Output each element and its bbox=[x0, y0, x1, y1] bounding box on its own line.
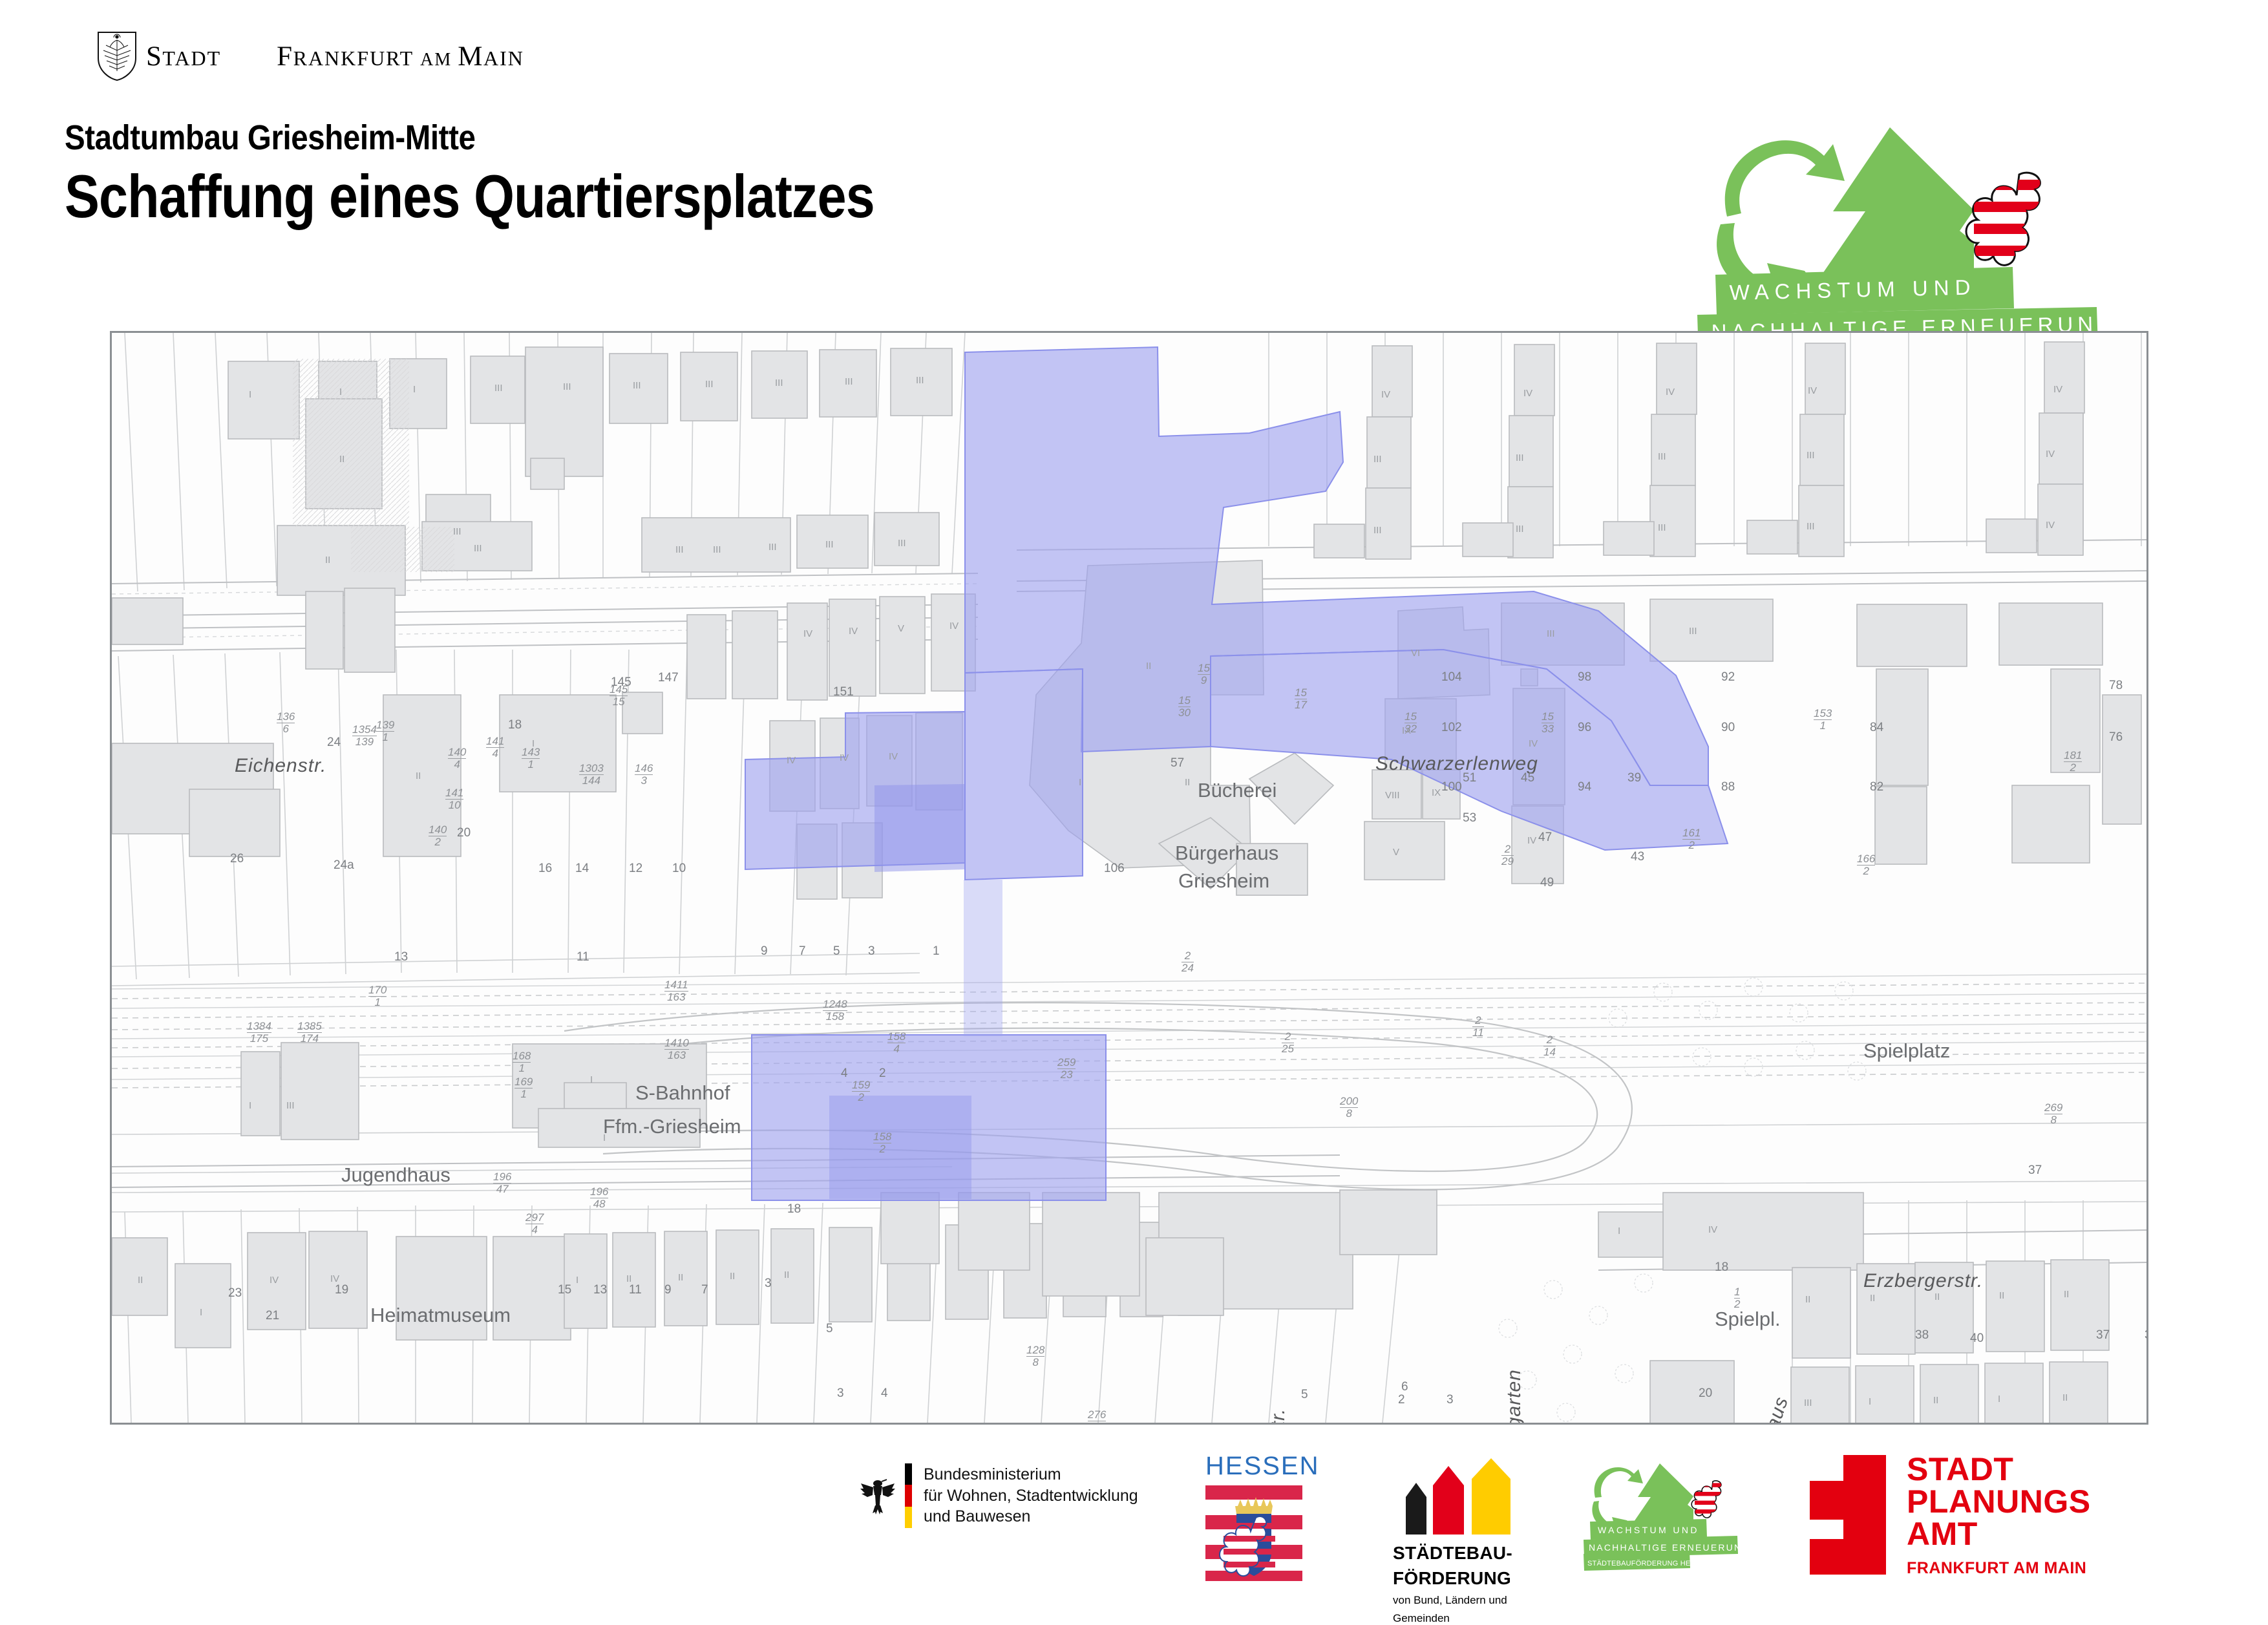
svg-text:IV: IV bbox=[1523, 388, 1532, 399]
svg-text:III: III bbox=[1689, 626, 1697, 637]
german-flag-bar bbox=[905, 1463, 912, 1528]
federal-eagle-icon bbox=[860, 1476, 896, 1516]
svg-text:IV: IV bbox=[803, 628, 812, 639]
svg-text:III: III bbox=[1807, 450, 1815, 461]
page-footer: Bundesministerium für Wohnen, Stadtentwi… bbox=[0, 1439, 2268, 1603]
city-wordmark: STADT FRANKFURT AM MAIN bbox=[146, 41, 524, 72]
bmwsb-line-1: Bundesministerium bbox=[924, 1464, 1138, 1485]
svg-text:II: II bbox=[784, 1269, 789, 1280]
frankfurt-eagle-crest-icon bbox=[97, 31, 137, 81]
svg-text:II: II bbox=[626, 1273, 631, 1284]
svg-text:V: V bbox=[898, 623, 904, 634]
svg-text:IV: IV bbox=[270, 1275, 279, 1286]
svg-text:II: II bbox=[730, 1271, 735, 1282]
svg-text:I: I bbox=[249, 1100, 251, 1111]
spa-line-2: PLANUNGS bbox=[1907, 1485, 2091, 1518]
svg-text:III: III bbox=[633, 380, 641, 391]
svg-text:IX: IX bbox=[1432, 787, 1441, 798]
stadtplanungsamt-mark-icon bbox=[1810, 1455, 1886, 1575]
sbf-line-1: STÄDTEBAU- bbox=[1393, 1543, 1529, 1563]
svg-text:II: II bbox=[678, 1272, 683, 1283]
page-title: Schaffung eines Quartiersplatzes bbox=[65, 162, 874, 231]
spa-line-4: FRANKFURT AM MAIN bbox=[1907, 1560, 2091, 1577]
svg-text:III: III bbox=[675, 544, 684, 555]
svg-text:II: II bbox=[1934, 1291, 1940, 1302]
hessen-coat-of-arms-icon bbox=[1205, 1484, 1302, 1581]
prog-small-line-1: WACHSTUM UND bbox=[1598, 1525, 1699, 1535]
svg-text:III: III bbox=[825, 539, 834, 550]
svg-text:III: III bbox=[713, 544, 721, 555]
svg-text:II: II bbox=[339, 454, 344, 465]
svg-text:II: II bbox=[1146, 661, 1151, 672]
city-of-frankfurt-logo: STADT FRANKFURT AM MAIN bbox=[97, 31, 524, 81]
svg-text:I: I bbox=[603, 1132, 606, 1143]
svg-text:IV: IV bbox=[2046, 449, 2055, 460]
svg-text:III: III bbox=[775, 377, 783, 388]
page-header: STADT FRANKFURT AM MAIN Stadtumbau Gries… bbox=[0, 0, 2268, 304]
svg-text:II: II bbox=[1933, 1395, 1938, 1406]
logo-stadtplanungsamt: STADT PLANUNGS AMT FRANKFURT AM MAIN bbox=[1810, 1453, 2091, 1577]
svg-text:IV: IV bbox=[2053, 384, 2062, 395]
svg-text:II: II bbox=[1999, 1290, 2004, 1301]
sbf-sub-2: Gemeinden bbox=[1393, 1611, 1529, 1625]
svg-text:III: III bbox=[1373, 454, 1382, 465]
logo-staedtebaufoerderung: STÄDTEBAU- FÖRDERUNG von Bund, Ländern u… bbox=[1393, 1457, 1529, 1625]
sbf-line-2: FÖRDERUNG bbox=[1393, 1568, 1529, 1588]
bmwsb-text: Bundesministerium für Wohnen, Stadtentwi… bbox=[924, 1464, 1138, 1527]
svg-text:II: II bbox=[1185, 777, 1190, 788]
svg-text:III: III bbox=[768, 542, 777, 553]
svg-text:I: I bbox=[1618, 1226, 1620, 1237]
svg-text:III: III bbox=[1658, 451, 1666, 462]
svg-text:II: II bbox=[325, 555, 330, 566]
svg-text:III: III bbox=[1658, 522, 1666, 533]
svg-text:IV: IV bbox=[889, 751, 898, 762]
prog-small-line-3: STÄDTEBAUFÖRDERUNG HESSEN bbox=[1587, 1560, 1710, 1567]
svg-text:I: I bbox=[200, 1307, 202, 1318]
svg-text:II: II bbox=[138, 1275, 143, 1286]
svg-text:I: I bbox=[339, 387, 342, 398]
svg-text:II: II bbox=[416, 770, 421, 781]
svg-text:II: II bbox=[1805, 1294, 1810, 1305]
svg-text:IV: IV bbox=[1529, 738, 1538, 749]
svg-text:III: III bbox=[1547, 628, 1555, 639]
svg-text:III: III bbox=[1373, 525, 1382, 536]
svg-text:I: I bbox=[576, 1275, 578, 1286]
svg-text:I: I bbox=[413, 384, 416, 395]
svg-text:III: III bbox=[1516, 524, 1524, 535]
svg-text:IV: IV bbox=[1666, 387, 1675, 398]
hessen-lion-icon bbox=[1966, 173, 2077, 265]
svg-text:III: III bbox=[453, 526, 461, 537]
svg-text:III: III bbox=[1807, 521, 1815, 532]
three-houses-icon bbox=[1393, 1457, 1529, 1535]
svg-text:VI: VI bbox=[1411, 648, 1420, 659]
svg-text:V: V bbox=[1393, 847, 1399, 858]
svg-text:III: III bbox=[705, 379, 714, 390]
logo-bundesministerium: Bundesministerium für Wohnen, Stadtentwi… bbox=[860, 1463, 1138, 1528]
svg-text:IV: IV bbox=[1808, 385, 1817, 396]
svg-text:I: I bbox=[1869, 1396, 1871, 1407]
svg-text:I: I bbox=[249, 389, 251, 400]
svg-text:IV: IV bbox=[1527, 835, 1536, 846]
hessen-label: HESSEN bbox=[1205, 1452, 1302, 1481]
logo-hessen: HESSEN bbox=[1205, 1452, 1302, 1584]
svg-text:IV: IV bbox=[330, 1273, 339, 1284]
cadastral-map[interactable]: III IIIIIIIII IIIIIIIII III IIII IIIIII … bbox=[110, 331, 2148, 1425]
prog-small-line-2: NACHHALTIGE ERNEUERUNG bbox=[1589, 1542, 1750, 1553]
svg-text:I: I bbox=[590, 1074, 593, 1085]
spa-line-1: STADT bbox=[1907, 1453, 2091, 1485]
svg-text:VIII: VIII bbox=[1385, 790, 1400, 801]
svg-text:III: III bbox=[916, 375, 924, 386]
spa-line-3: AMT bbox=[1907, 1518, 2091, 1550]
svg-text:III: III bbox=[474, 543, 482, 554]
svg-text:III: III bbox=[1516, 452, 1524, 463]
svg-text:III: III bbox=[898, 538, 906, 549]
svg-text:III: III bbox=[286, 1100, 295, 1111]
stadtplanungsamt-words: STADT PLANUNGS AMT FRANKFURT AM MAIN bbox=[1907, 1453, 2091, 1577]
svg-text:II: II bbox=[1870, 1293, 1875, 1304]
svg-text:I: I bbox=[532, 738, 535, 749]
svg-text:IV: IV bbox=[949, 621, 959, 632]
svg-text:I: I bbox=[1998, 1394, 2000, 1405]
svg-text:IV: IV bbox=[840, 752, 849, 763]
svg-text:II: II bbox=[2062, 1392, 2068, 1403]
logo-programme-small: WACHSTUM UND NACHHALTIGE ERNEUERUNG STÄD… bbox=[1584, 1457, 1777, 1577]
svg-text:II: II bbox=[2064, 1289, 2069, 1300]
svg-text:IV: IV bbox=[1708, 1224, 1717, 1235]
svg-text:IX: IX bbox=[1402, 725, 1411, 736]
svg-text:IV: IV bbox=[849, 626, 858, 637]
svg-text:IV: IV bbox=[2046, 520, 2055, 531]
map-drawing: III IIIIIIIII IIIIIIIII III IIII IIIIII … bbox=[112, 333, 2146, 1423]
bmwsb-line-2: für Wohnen, Stadtentwicklung bbox=[924, 1485, 1138, 1507]
svg-text:III: III bbox=[845, 376, 853, 387]
sbf-sub-1: von Bund, Ländern und bbox=[1393, 1593, 1529, 1607]
svg-text:I: I bbox=[1079, 777, 1081, 788]
svg-text:III: III bbox=[494, 383, 503, 394]
svg-text:IV: IV bbox=[1381, 389, 1390, 400]
bmwsb-line-3: und Bauwesen bbox=[924, 1506, 1138, 1527]
project-subtitle: Stadtumbau Griesheim-Mitte bbox=[65, 118, 475, 158]
svg-text:IV: IV bbox=[787, 755, 796, 766]
svg-text:III: III bbox=[563, 381, 571, 392]
svg-text:III: III bbox=[1804, 1397, 1812, 1408]
